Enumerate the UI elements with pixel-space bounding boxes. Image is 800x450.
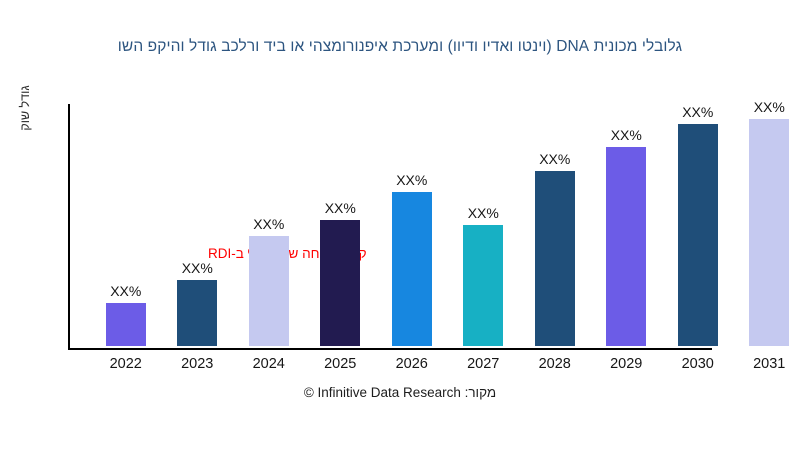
bar-value-label: XX% [110,283,141,299]
bar-chart: גלובלי מכונית AND (וינטו ואדיו ודיוו) ומ… [0,0,800,450]
bar-rect [106,303,146,346]
bar-2022[interactable]: XX% [106,273,146,346]
bar-rect [320,220,360,346]
y-axis-label: גודל שוק [18,58,36,158]
bar-rect [177,280,217,346]
x-axis-line [68,348,712,350]
x-tick-2026: 2026 [376,356,448,372]
x-tick-2025: 2025 [305,356,377,372]
bar-2031[interactable]: XX% [749,89,789,346]
bar-2023[interactable]: XX% [177,250,217,346]
bar-value-label: XX% [682,104,713,120]
bar-rect [392,192,432,346]
bar-rect [678,124,718,346]
x-tick-2027: 2027 [448,356,520,372]
bar-2027[interactable]: XX% [463,195,503,346]
plot-area: קצב צמיחה של XX% ב-IDR XX%XX%XX%XX%XX%XX… [68,104,800,348]
bar-value-label: XX% [325,200,356,216]
bar-2030[interactable]: XX% [678,94,718,346]
bar-2024[interactable]: XX% [249,206,289,346]
x-tick-2028: 2028 [519,356,591,372]
bar-value-label: XX% [611,127,642,143]
bar-2028[interactable]: XX% [535,141,575,346]
bar-rect [535,171,575,346]
bar-rect [249,236,289,346]
bar-rect [606,147,646,346]
bar-rect [749,119,789,346]
bar-2025[interactable]: XX% [320,190,360,346]
x-tick-2029: 2029 [591,356,663,372]
x-tick-2031: 2031 [734,356,800,372]
chart-title: גלובלי מכונית AND (וינטו ואדיו ודיוו) ומ… [0,38,800,56]
y-axis-line [68,104,70,349]
bar-value-label: XX% [253,216,284,232]
bar-value-label: XX% [754,99,785,115]
bar-rect [463,225,503,346]
bar-value-label: XX% [396,172,427,188]
bar-value-label: XX% [539,151,570,167]
x-tick-2030: 2030 [662,356,734,372]
bar-2029[interactable]: XX% [606,117,646,346]
x-tick-2024: 2024 [233,356,305,372]
bar-value-label: XX% [182,260,213,276]
bar-value-label: XX% [468,205,499,221]
x-tick-2023: 2023 [162,356,234,372]
source-note: מקור: Infinitive Data Research © [0,385,800,400]
bar-2026[interactable]: XX% [392,162,432,346]
x-tick-2022: 2022 [90,356,162,372]
